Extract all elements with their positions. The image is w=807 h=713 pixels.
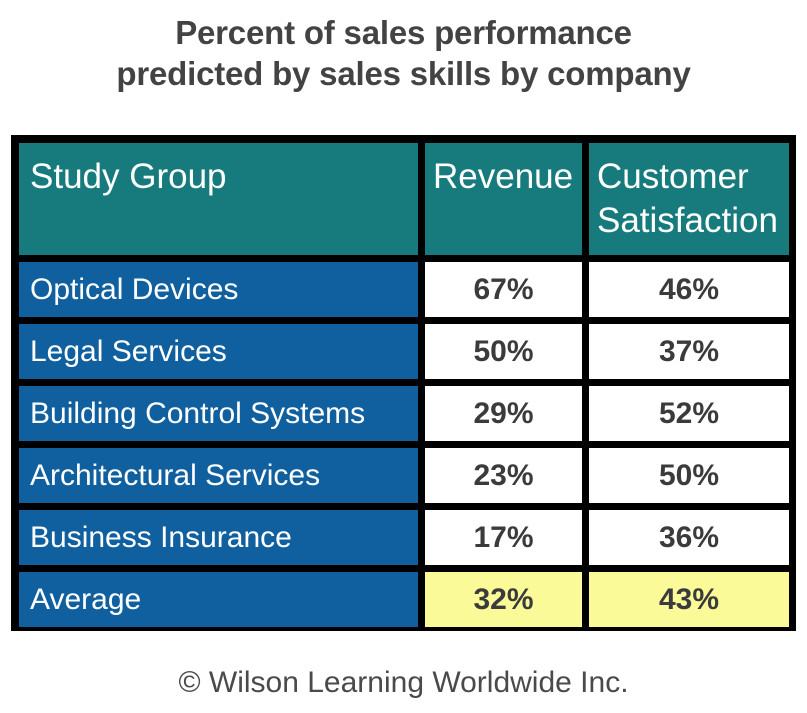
column-header-study-group: Study Group bbox=[19, 143, 418, 255]
column-header-customer-satisfaction: Customer Satisfaction bbox=[589, 143, 789, 255]
page-title-line-1: Percent of sales performance bbox=[0, 12, 807, 53]
infographic-table-page: Percent of sales performance predicted b… bbox=[0, 0, 807, 713]
page-title-line-2: predicted by sales skills by company bbox=[0, 53, 807, 94]
table-row-average: Average 32% 43% bbox=[19, 572, 788, 627]
table-row: Legal Services 50% 37% bbox=[19, 324, 788, 379]
page-title: Percent of sales performance predicted b… bbox=[0, 12, 807, 94]
row-value-customer-satisfaction: 46% bbox=[589, 262, 789, 317]
table-row: Building Control Systems 29% 52% bbox=[19, 386, 788, 441]
table-row: Optical Devices 67% 46% bbox=[19, 262, 788, 317]
row-value-revenue: 17% bbox=[425, 510, 582, 565]
column-header-revenue: Revenue bbox=[425, 143, 582, 255]
row-value-revenue: 29% bbox=[425, 386, 582, 441]
table-grid: Study Group Revenue Customer Satisfactio… bbox=[19, 143, 788, 623]
row-label: Building Control Systems bbox=[19, 386, 418, 441]
row-value-revenue: 67% bbox=[425, 262, 582, 317]
row-value-customer-satisfaction: 37% bbox=[589, 324, 789, 379]
table-row: Architectural Services 23% 50% bbox=[19, 448, 788, 503]
row-value-revenue: 23% bbox=[425, 448, 582, 503]
row-value-revenue: 32% bbox=[425, 572, 582, 627]
row-label: Architectural Services bbox=[19, 448, 418, 503]
table-row: Business Insurance 17% 36% bbox=[19, 510, 788, 565]
row-value-customer-satisfaction: 36% bbox=[589, 510, 789, 565]
row-label: Business Insurance bbox=[19, 510, 418, 565]
data-table: Study Group Revenue Customer Satisfactio… bbox=[11, 135, 796, 631]
row-value-customer-satisfaction: 50% bbox=[589, 448, 789, 503]
table-header-row: Study Group Revenue Customer Satisfactio… bbox=[19, 143, 788, 255]
row-label: Optical Devices bbox=[19, 262, 418, 317]
row-label: Legal Services bbox=[19, 324, 418, 379]
copyright-notice: © Wilson Learning Worldwide Inc. bbox=[0, 664, 807, 702]
row-value-revenue: 50% bbox=[425, 324, 582, 379]
row-value-customer-satisfaction: 52% bbox=[589, 386, 789, 441]
row-value-customer-satisfaction: 43% bbox=[589, 572, 789, 627]
row-label: Average bbox=[19, 572, 418, 627]
